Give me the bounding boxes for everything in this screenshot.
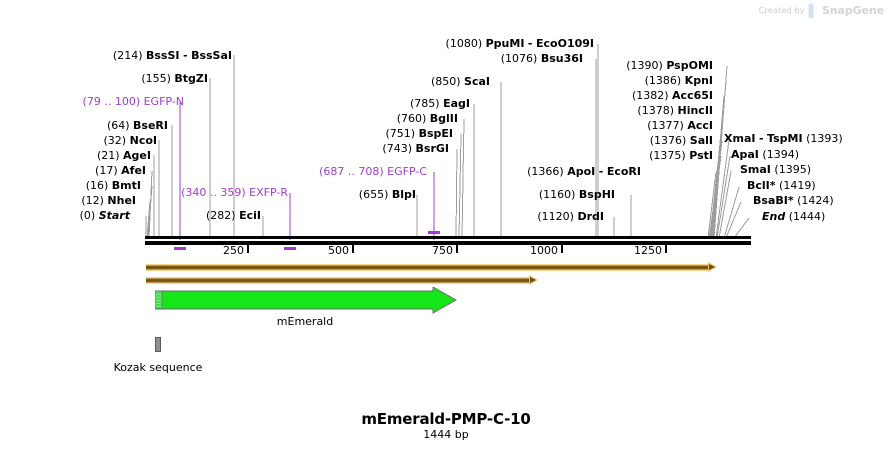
site-name-smai: SmaI <box>740 163 771 176</box>
leader-afei <box>149 171 152 238</box>
site-position-bsabi: (1424) <box>797 194 834 207</box>
site-position-acci: (1377) <box>647 119 684 132</box>
site-label-ecii[interactable]: (282) EciI <box>206 210 261 222</box>
site-label-eagi[interactable]: (785) EagI <box>410 98 470 110</box>
site-label-blpi[interactable]: (655) BlpI <box>359 189 416 201</box>
site-name-bsabi: BsaBI <box>753 194 788 207</box>
site-position-bcli: (1419) <box>779 179 816 192</box>
site-position-xmai: (1393) <box>806 132 843 145</box>
site-name-start: Start <box>99 209 130 222</box>
site-label-acci[interactable]: (1377) AccI <box>647 120 713 132</box>
site-name-hincii: HincII <box>677 104 713 117</box>
site-name-exfp-r: EXFP-R <box>249 186 288 199</box>
site-position-bseri: (64) <box>107 119 130 132</box>
site-position-egfp-c: (687 .. 708) <box>319 165 384 178</box>
site-position-afei: (17) <box>95 164 118 177</box>
ruler-tick-750 <box>456 245 458 253</box>
leader-nhei <box>147 201 150 238</box>
feature-label-kozak-sequence: Kozak sequence <box>114 361 203 374</box>
leader-psti <box>709 156 721 238</box>
site-name-egfp-c: EGFP-C <box>387 165 427 178</box>
leader-bcli <box>724 187 739 238</box>
feature-arrow-memerald[interactable] <box>155 287 457 313</box>
site-sep-ppumi: - <box>528 37 533 50</box>
site-name-acc65i: Acc65I <box>672 89 713 102</box>
site-name-bcli: BclI <box>747 179 770 192</box>
ruler-label-1250: 1250 <box>634 244 662 257</box>
site-name-bmti: BmtI <box>112 179 141 192</box>
leader-lines-group <box>0 0 892 449</box>
site-label-egfp-n[interactable]: (79 .. 100) EGFP-N <box>83 96 184 108</box>
site-position-egfp-n: (79 .. 100) <box>83 95 141 108</box>
leader-bsrgi <box>456 149 457 238</box>
site-name-apai: ApaI <box>731 148 759 161</box>
leader-bglii <box>462 119 464 238</box>
site-name-end: End <box>762 210 785 223</box>
site-position-agei: (21) <box>97 149 120 162</box>
site-position-kpni: (1386) <box>645 74 682 87</box>
ruler-tick-1250 <box>665 245 667 253</box>
site-position-nhei: (12) <box>81 194 104 207</box>
site-star-bsabi: * <box>788 194 794 207</box>
site-label-kpni[interactable]: (1386) KpnI <box>645 75 713 87</box>
leader-bspei <box>459 134 461 238</box>
site-label-bsrgi[interactable]: (743) BsrGI <box>382 143 449 155</box>
site-label-bseri[interactable]: (64) BseRI <box>107 120 168 132</box>
ruler-tick-500 <box>352 245 354 253</box>
site-position-exfp-r: (340 .. 359) <box>181 186 246 199</box>
leader-smai <box>719 171 731 238</box>
site-label-btgzi[interactable]: (155) BtgZI <box>141 73 208 85</box>
feature-tick-egfp-n[interactable] <box>174 247 186 250</box>
site-name2-tspmi: TspMI <box>767 132 803 145</box>
site-label-acc65i[interactable]: (1382) Acc65I <box>632 90 713 102</box>
site-name-scai: ScaI <box>464 75 490 88</box>
site-name-eagi: EagI <box>443 97 470 110</box>
feature-label-memerald: mEmerald <box>277 315 333 328</box>
site-label-bsu36i[interactable]: (1076) Bsu36I <box>501 53 583 65</box>
site-label-drdi[interactable]: (1120) DrdI <box>537 211 604 223</box>
leader-pspomi <box>714 66 727 238</box>
site-label-hincii[interactable]: (1378) HincII <box>637 105 713 117</box>
site-name-bsphi: BspHI <box>579 188 615 201</box>
site-label-ncoi[interactable]: (32) NcoI <box>104 135 157 147</box>
site-position-drdi: (1120) <box>537 210 574 223</box>
snapgene-watermark: Created by ▌ SnapGene <box>759 4 884 17</box>
site-position-sali: (1376) <box>650 134 687 147</box>
feature-tick-egfp-c[interactable] <box>428 231 440 234</box>
site-name-bsrgi: BsrGI <box>416 142 449 155</box>
site-name-kpni: KpnI <box>685 74 713 87</box>
leader-end <box>734 218 749 238</box>
site-label-pspomi[interactable]: (1390) PspOMI <box>626 60 713 72</box>
leader-kpni <box>713 81 726 238</box>
plasmid-title: mEmerald-PMP-C-10 <box>0 410 892 428</box>
ruler-tick-250 <box>247 245 249 253</box>
site-position-ecii: (282) <box>206 209 236 222</box>
feature-arrow-orange-2[interactable] <box>146 277 539 284</box>
site-sep-apoi: - <box>599 165 604 178</box>
site-name2-ecoo109i: EcoO109I <box>536 37 594 50</box>
plasmid-map-canvas: Created by ▌ SnapGene <box>0 0 892 449</box>
site-name-bsu36i: Bsu36I <box>541 52 583 65</box>
site-name-afei: AfeI <box>121 164 146 177</box>
site-position-bspei: (751) <box>385 127 415 140</box>
site-sep-xmai: - <box>759 132 764 145</box>
site-label-bcli[interactable]: BclI* (1419) <box>747 180 816 192</box>
leader-xmai <box>716 140 729 238</box>
site-label-bsphi[interactable]: (1160) BspHI <box>539 189 615 201</box>
watermark-brand-label: SnapGene <box>822 4 884 17</box>
site-label-ppumi[interactable]: (1080) PpuMI - EcoO109I <box>446 38 594 50</box>
site-position-ppumi: (1080) <box>446 37 483 50</box>
site-position-scai: (850) <box>431 75 461 88</box>
sequence-backbone-upper-strand[interactable] <box>145 236 751 239</box>
ruler-label-750: 750 <box>432 244 453 257</box>
site-name-pspomi: PspOMI <box>666 59 713 72</box>
site-name-egfp-n: EGFP-N <box>144 95 184 108</box>
feature-arrow-orange-1[interactable] <box>146 264 718 271</box>
site-name-bseri: BseRI <box>133 119 168 132</box>
site-name2-bsssai: BssSaI <box>191 49 232 62</box>
site-position-ncoi: (32) <box>104 134 127 147</box>
site-position-bsphi: (1160) <box>539 188 576 201</box>
site-label-bsssi[interactable]: (214) BssSI - BssSaI <box>113 50 232 62</box>
site-name-bspei: BspEI <box>419 127 453 140</box>
plasmid-length: 1444 bp <box>0 428 892 441</box>
site-label-scai[interactable]: (850) ScaI <box>431 76 490 88</box>
site-position-eagi: (785) <box>410 97 440 110</box>
site-position-blpi: (655) <box>359 188 389 201</box>
leader-bsabi <box>726 202 741 238</box>
site-label-xmai[interactable]: XmaI - TspMI (1393) <box>724 133 843 145</box>
site-name-acci: AccI <box>687 119 713 132</box>
site-name-ppumi: PpuMI <box>486 37 525 50</box>
site-position-hincii: (1378) <box>637 104 674 117</box>
site-position-bsrgi: (743) <box>382 142 412 155</box>
site-star-bcli: * <box>770 179 776 192</box>
snapgene-logo-icon: ▌ <box>809 5 818 17</box>
site-label-nhei[interactable]: (12) NheI <box>81 195 136 207</box>
feature-arrow-orange-1-body <box>146 264 708 271</box>
site-position-bsu36i: (1076) <box>501 52 538 65</box>
site-position-start: (0) <box>80 209 96 222</box>
leader-bmti <box>148 186 152 238</box>
site-position-bsssi: (214) <box>113 49 143 62</box>
site-position-btgzi: (155) <box>141 72 171 85</box>
leader-apai <box>717 156 730 238</box>
site-label-apoi[interactable]: (1366) ApoI - EcoRI <box>527 166 641 178</box>
site-label-bmti[interactable]: (16) BmtI <box>86 180 141 192</box>
feature-tick-exfp-r[interactable] <box>284 247 296 250</box>
ruler-label-1000: 1000 <box>530 244 558 257</box>
site-name-apoi: ApoI <box>567 165 595 178</box>
site-name-bglii: BglII <box>430 112 458 125</box>
feature-kozak-sequence-marker[interactable] <box>155 337 161 352</box>
site-position-acc65i: (1382) <box>632 89 669 102</box>
site-name-blpi: BlpI <box>392 188 416 201</box>
site-label-end[interactable]: End (1444) <box>762 211 825 223</box>
feature-arrow-orange-2-body <box>146 277 529 284</box>
site-label-bglii[interactable]: (760) BglII <box>397 113 458 125</box>
site-name-ecii: EciI <box>239 209 261 222</box>
site-label-agei[interactable]: (21) AgeI <box>97 150 151 162</box>
feature-arrow-orange-1-head <box>708 262 717 272</box>
site-position-bmti: (16) <box>86 179 109 192</box>
site-name-nhei: NheI <box>107 194 136 207</box>
site-name-btgzi: BtgZI <box>174 72 208 85</box>
site-name-sali: SalI <box>690 134 713 147</box>
site-position-end: (1444) <box>789 210 826 223</box>
site-label-sali[interactable]: (1376) SalI <box>650 135 713 147</box>
site-label-apai[interactable]: ApaI (1394) <box>731 149 799 161</box>
leader-apoi <box>708 172 716 238</box>
site-name-psti: PstI <box>689 149 713 162</box>
site-position-apoi: (1366) <box>527 165 564 178</box>
ruler-label-500: 500 <box>328 244 349 257</box>
ruler-tick-1000 <box>561 245 563 253</box>
site-name2-ecori: EcoRI <box>607 165 641 178</box>
site-label-smai[interactable]: SmaI (1395) <box>740 164 811 176</box>
site-label-exfp-r[interactable]: (340 .. 359) EXFP-R <box>181 187 288 199</box>
site-name-drdi: DrdI <box>577 210 604 223</box>
site-label-afei[interactable]: (17) AfeI <box>95 165 146 177</box>
site-position-smai: (1395) <box>774 163 811 176</box>
site-label-bspei[interactable]: (751) BspEI <box>385 128 453 140</box>
site-name-bsssi: BssSI <box>146 49 180 62</box>
watermark-created-by-label: Created by <box>759 6 805 15</box>
site-label-start[interactable]: (0) Start <box>80 210 130 222</box>
leader-acc65i <box>712 96 724 238</box>
site-position-bglii: (760) <box>397 112 427 125</box>
site-name-ncoi: NcoI <box>130 134 157 147</box>
feature-arrow-orange-2-head <box>529 275 538 285</box>
site-sep-bsssi: - <box>183 49 188 62</box>
site-name-xmai: XmaI <box>724 132 755 145</box>
site-label-psti[interactable]: (1375) PstI <box>649 150 713 162</box>
ruler-label-250: 250 <box>223 244 244 257</box>
site-name-agei: AgeI <box>123 149 151 162</box>
site-label-egfp-c[interactable]: (687 .. 708) EGFP-C <box>319 166 427 178</box>
site-position-psti: (1375) <box>649 149 686 162</box>
site-label-bsabi[interactable]: BsaBI* (1424) <box>753 195 834 207</box>
feature-arrow-memerald-shape <box>155 287 457 317</box>
site-position-apai: (1394) <box>762 148 799 161</box>
site-position-pspomi: (1390) <box>626 59 663 72</box>
